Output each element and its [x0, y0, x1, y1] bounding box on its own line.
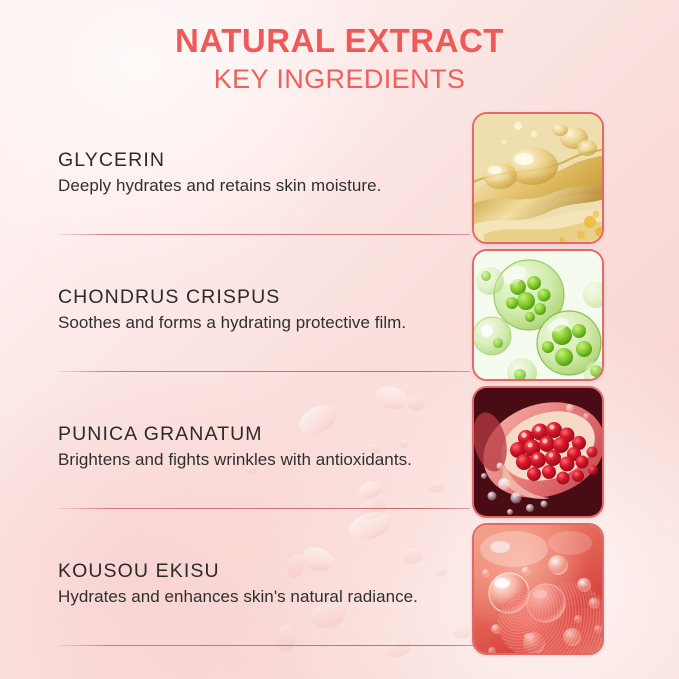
- row-divider: [58, 645, 490, 646]
- ingredient-name: PUNICA GRANATUM: [58, 422, 458, 446]
- ingredient-text-block: CHONDRUS CRISPUS Soothes and forms a hyd…: [58, 285, 458, 334]
- ingredient-name: KOUSOU EKISU: [58, 559, 458, 583]
- golden-oil-droplets-image: [472, 112, 604, 244]
- ingredient-description: Brightens and fights wrinkles with antio…: [58, 449, 458, 471]
- algae-illustration: [474, 251, 604, 381]
- ingredient-description: Soothes and forms a hydrating protective…: [58, 312, 458, 334]
- ingredient-text-block: GLYCERIN Deeply hydrates and retains ski…: [58, 148, 458, 197]
- ingredient-description: Deeply hydrates and retains skin moistur…: [58, 175, 458, 197]
- green-algae-cells-image: [472, 249, 604, 381]
- pomegranate-seeds-image: [472, 386, 604, 518]
- ingredient-name: GLYCERIN: [58, 148, 458, 172]
- pomegranate-illustration: [474, 388, 604, 518]
- row-divider: [58, 508, 470, 509]
- coral-serum-bubbles-image: [472, 523, 604, 655]
- page-subtitle: KEY INGREDIENTS: [0, 65, 679, 93]
- row-divider: [58, 234, 470, 235]
- row-divider: [58, 371, 470, 372]
- oil-illustration: [474, 114, 604, 244]
- ingredient-text-block: PUNICA GRANATUM Brightens and fights wri…: [58, 422, 458, 471]
- page-title: NATURAL EXTRACT: [0, 24, 679, 59]
- poster-header: NATURAL EXTRACT KEY INGREDIENTS: [0, 24, 679, 93]
- ingredient-text-block: KOUSOU EKISU Hydrates and enhances skin'…: [58, 559, 458, 608]
- ingredient-name: CHONDRUS CRISPUS: [58, 285, 458, 309]
- ingredient-description: Hydrates and enhances skin's natural rad…: [58, 586, 458, 608]
- ingredient-infographic-poster: NATURAL EXTRACT KEY INGREDIENTS GLYCERIN…: [0, 0, 679, 679]
